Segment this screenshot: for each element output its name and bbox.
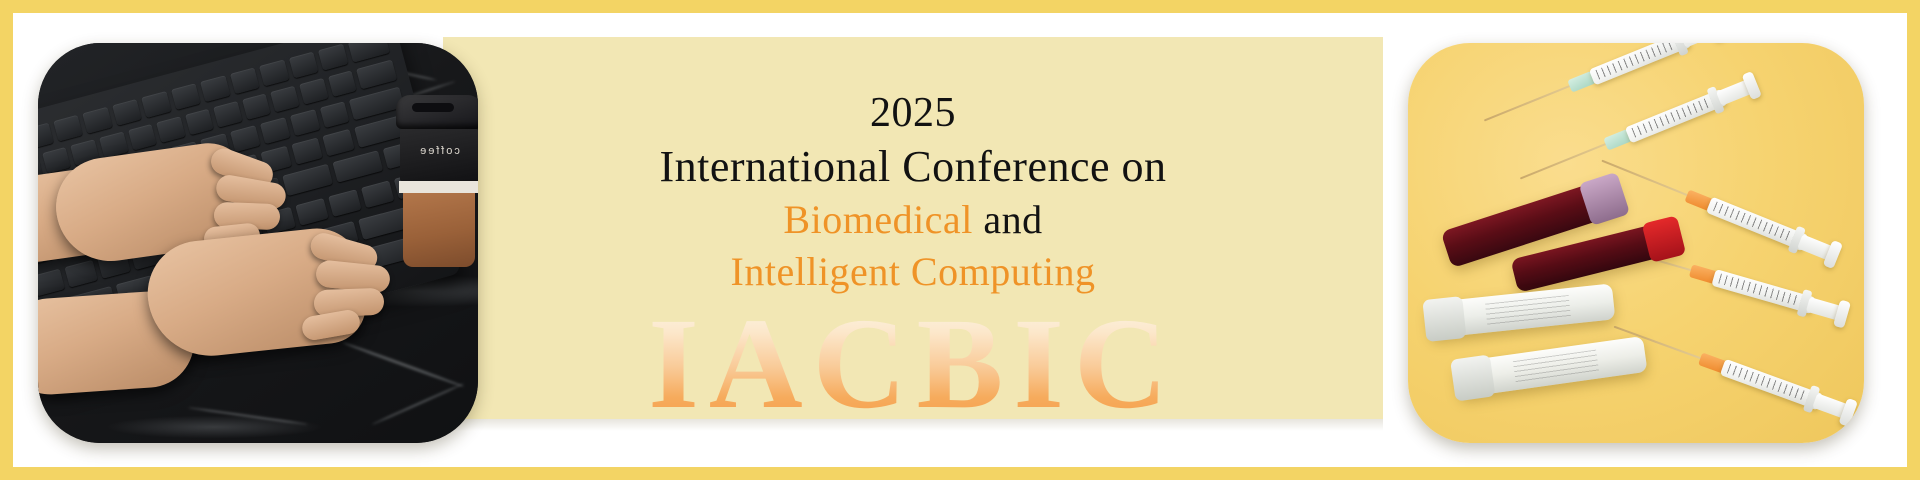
medical-supplies-photo (1408, 43, 1864, 443)
keyboard-photo: coffee (38, 43, 478, 443)
conference-year: 2025 (443, 89, 1383, 139)
conference-banner: coffee 2025 International Conference on … (0, 0, 1920, 480)
conference-name-line-1: International Conference on (443, 141, 1383, 193)
conference-title: 2025 International Conference on Biomedi… (443, 89, 1383, 295)
specimen-tube-icon (1454, 336, 1647, 398)
conference-name-line-3: Intelligent Computing (443, 248, 1383, 295)
conference-name-line-2: Biomedical and (443, 196, 1383, 243)
banner-inlay: coffee 2025 International Conference on … (13, 13, 1907, 467)
specimen-tube-icon (1427, 283, 1616, 338)
acronym-wordmark: IACBIC (443, 299, 1383, 429)
topic-biomedical: Biomedical (783, 197, 972, 242)
conjunction-and: and (973, 197, 1043, 242)
